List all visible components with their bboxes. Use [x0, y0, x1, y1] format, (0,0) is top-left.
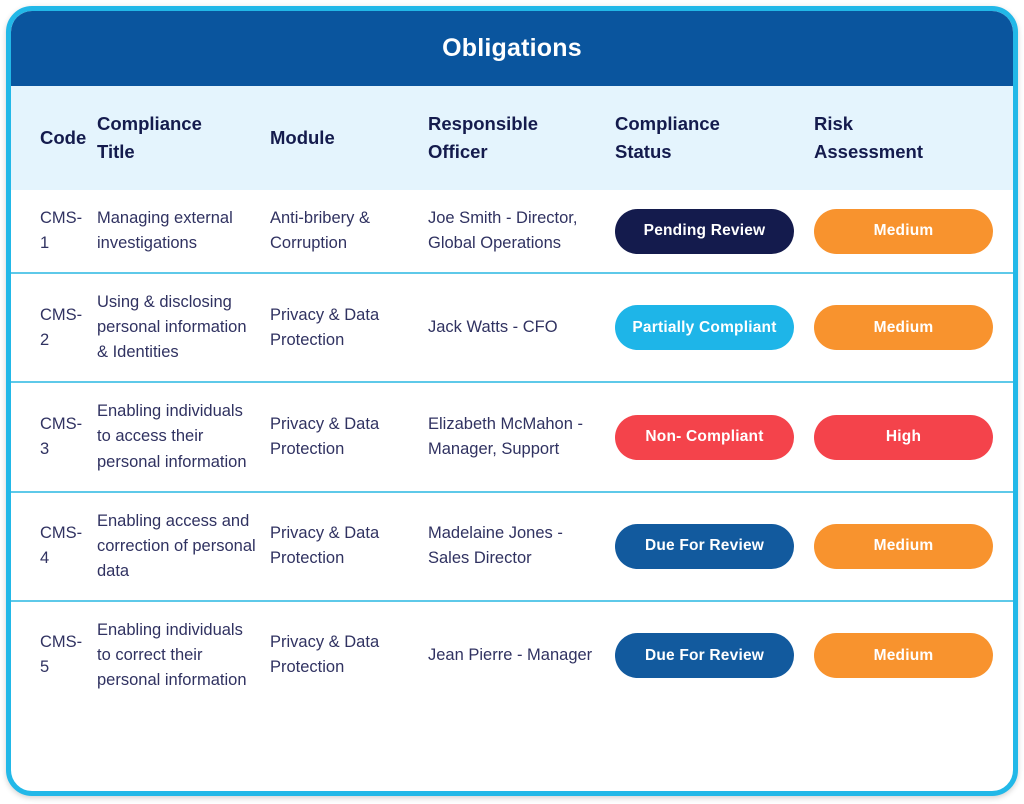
obligations-card: Obligations Code Compliance Title: [6, 6, 1018, 796]
cell-responsible-officer: Jean Pierre - Manager: [428, 601, 615, 709]
column-header-compliance-status: Compliance Status: [615, 86, 814, 190]
column-header-compliance-title-line2: Title: [97, 138, 260, 166]
column-header-risk-assessment-line2: Assessment: [814, 138, 1003, 166]
cell-risk-assessment: High: [814, 382, 1013, 491]
cell-code: CMS-3: [11, 382, 97, 491]
status-badge[interactable]: Pending Review: [615, 209, 794, 254]
cell-compliance-status: Due For Review: [615, 492, 814, 601]
cell-risk-assessment: Medium: [814, 601, 1013, 709]
cell-compliance-title: Enabling individuals to access their per…: [97, 382, 270, 491]
risk-badge[interactable]: Medium: [814, 633, 993, 678]
table-row: CMS-4 Enabling access and correction of …: [11, 492, 1013, 601]
column-header-compliance-status-line1: Compliance: [615, 110, 804, 138]
cell-compliance-title: Managing external investigations: [97, 190, 270, 273]
cell-code: CMS-5: [11, 601, 97, 709]
cell-code: CMS-2: [11, 273, 97, 382]
column-header-responsible-officer: Responsible Officer: [428, 86, 615, 190]
column-header-risk-assessment: Risk Assessment: [814, 86, 1013, 190]
cell-risk-assessment: Medium: [814, 190, 1013, 273]
cell-compliance-title: Enabling access and correction of person…: [97, 492, 270, 601]
risk-badge[interactable]: Medium: [814, 524, 993, 569]
table-row: CMS-5 Enabling individuals to correct th…: [11, 601, 1013, 709]
cell-risk-assessment: Medium: [814, 492, 1013, 601]
page-title: Obligations: [442, 34, 582, 63]
table-header-row: Code Compliance Title Module Responsible…: [11, 86, 1013, 190]
table-row: CMS-1 Managing external investigations A…: [11, 190, 1013, 273]
column-header-risk-assessment-line1: Risk: [814, 110, 1003, 138]
cell-compliance-status: Non- Compliant: [615, 382, 814, 491]
column-header-compliance-title-line1: Compliance: [97, 110, 260, 138]
cell-code: CMS-1: [11, 190, 97, 273]
cell-compliance-title: Using & disclosing personal information …: [97, 273, 270, 382]
cell-compliance-status: Pending Review: [615, 190, 814, 273]
column-header-module-line1: Module: [270, 124, 418, 152]
column-header-module: Module: [270, 86, 428, 190]
column-header-compliance-title: Compliance Title: [97, 86, 270, 190]
status-badge[interactable]: Partially Compliant: [615, 305, 794, 350]
risk-badge[interactable]: Medium: [814, 305, 993, 350]
cell-responsible-officer: Madelaine Jones - Sales Director: [428, 492, 615, 601]
cell-code: CMS-4: [11, 492, 97, 601]
table-row: CMS-2 Using & disclosing personal inform…: [11, 273, 1013, 382]
risk-badge[interactable]: Medium: [814, 209, 993, 254]
obligations-table: Code Compliance Title Module Responsible…: [11, 86, 1013, 709]
column-header-responsible-officer-line2: Officer: [428, 138, 605, 166]
cell-risk-assessment: Medium: [814, 273, 1013, 382]
cell-module: Anti-bribery & Corruption: [270, 190, 428, 273]
status-badge[interactable]: Due For Review: [615, 524, 794, 569]
cell-compliance-status: Due For Review: [615, 601, 814, 709]
risk-badge[interactable]: High: [814, 415, 993, 460]
column-header-responsible-officer-line1: Responsible: [428, 110, 605, 138]
cell-module: Privacy & Data Protection: [270, 273, 428, 382]
card-title-bar: Obligations: [11, 11, 1013, 86]
cell-responsible-officer: Joe Smith - Director, Global Operations: [428, 190, 615, 273]
cell-module: Privacy & Data Protection: [270, 601, 428, 709]
cell-module: Privacy & Data Protection: [270, 492, 428, 601]
table-header: Code Compliance Title Module Responsible…: [11, 86, 1013, 190]
column-header-compliance-status-line2: Status: [615, 138, 804, 166]
cell-compliance-title: Enabling individuals to correct their pe…: [97, 601, 270, 709]
cell-module: Privacy & Data Protection: [270, 382, 428, 491]
status-badge[interactable]: Non- Compliant: [615, 415, 794, 460]
cell-responsible-officer: Elizabeth McMahon - Manager, Support: [428, 382, 615, 491]
cell-compliance-status: Partially Compliant: [615, 273, 814, 382]
table-row: CMS-3 Enabling individuals to access the…: [11, 382, 1013, 491]
column-header-code: Code: [11, 86, 97, 190]
column-header-code-line1: Code: [40, 124, 87, 152]
status-badge[interactable]: Due For Review: [615, 633, 794, 678]
table-body: CMS-1 Managing external investigations A…: [11, 190, 1013, 709]
page-root: Obligations Code Compliance Title: [0, 0, 1024, 804]
cell-responsible-officer: Jack Watts - CFO: [428, 273, 615, 382]
